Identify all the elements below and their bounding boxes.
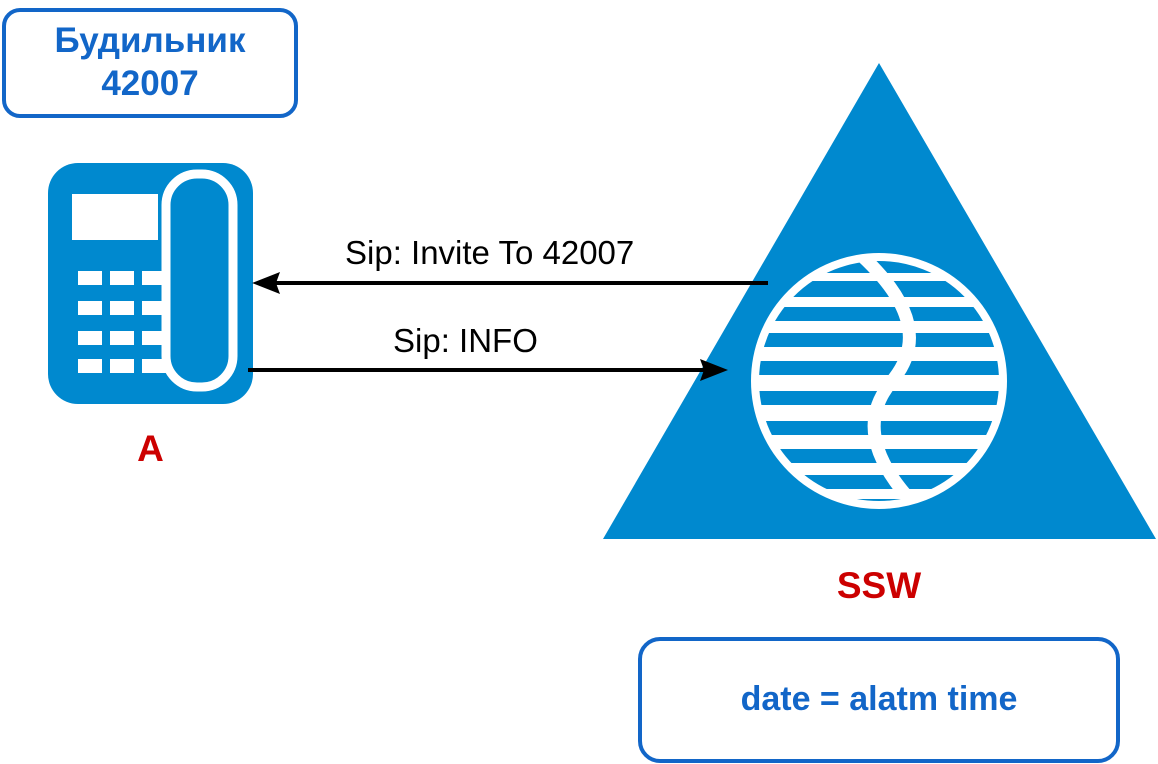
message-label-invite: Sip: Invite To 42007 xyxy=(345,234,634,272)
diagram-canvas: Будильник 42007 A xyxy=(0,0,1158,764)
alarm-note-box: Будильник 42007 xyxy=(2,8,298,118)
alarm-note-text: Будильник 42007 xyxy=(55,20,246,105)
date-note-text: date = alatm time xyxy=(741,679,1018,720)
date-note-box: date = alatm time xyxy=(638,637,1120,763)
message-label-info: Sip: INFO xyxy=(393,322,538,360)
phone-a-label: A xyxy=(48,428,253,470)
ssw-label: SSW xyxy=(600,565,1158,607)
desk-phone-icon xyxy=(48,163,253,404)
triangle-globe-icon xyxy=(600,60,1158,542)
